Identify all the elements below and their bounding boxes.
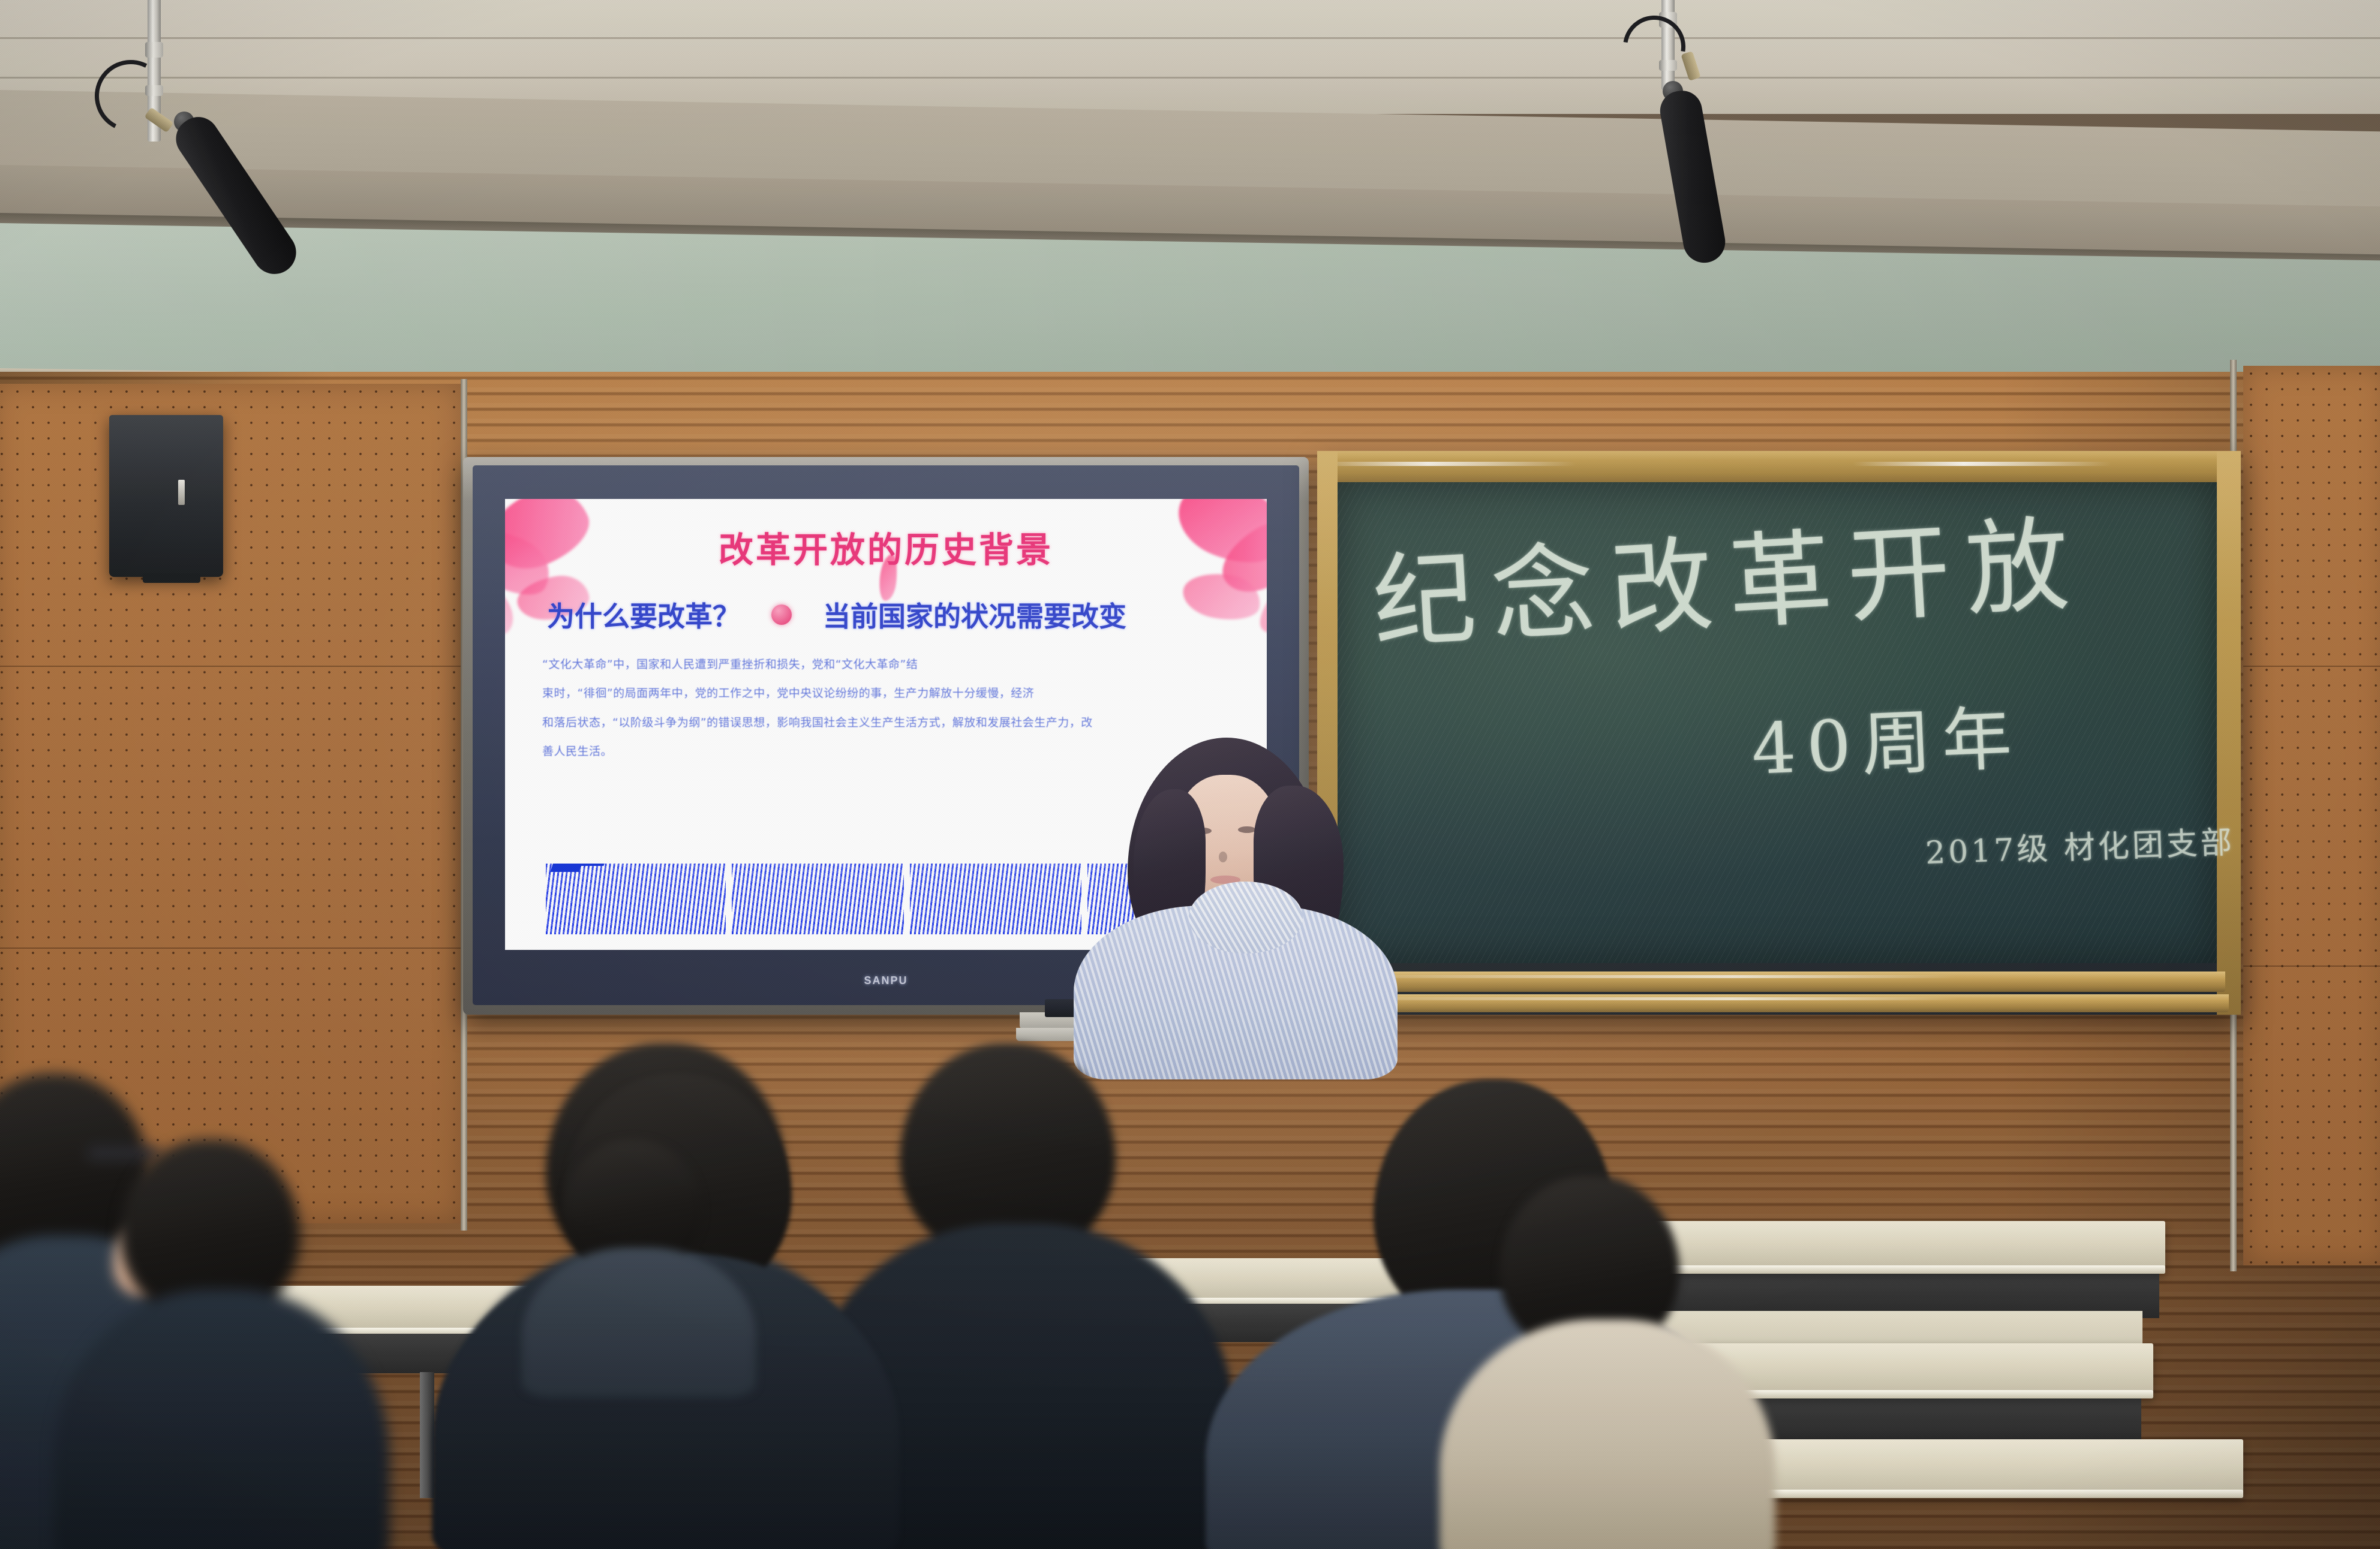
xlr-connector <box>1681 51 1700 81</box>
blackboard-surface: 纪念改革开放 40周年 2017级 材化团支部 <box>1338 482 2217 963</box>
microphone-cable <box>1610 3 1697 90</box>
student-torso <box>522 1247 756 1397</box>
chalk-tray <box>1330 971 2225 992</box>
boom-microphone-right <box>1571 0 1811 288</box>
slide-photo-1 <box>546 864 726 934</box>
wall-speaker-left <box>109 415 223 577</box>
student-jacket <box>1440 1319 1775 1549</box>
slide-question-row: 为什么要改革？ 当前国家的状况需要改变 <box>505 595 1267 634</box>
blackboard-subline: 40周年 <box>1749 682 2024 794</box>
student-torso <box>54 1289 390 1549</box>
shotgun-microphone-capsule <box>168 109 304 282</box>
classroom-blackboard: 纪念改革开放 40周年 2017级 材化团支部 <box>1317 451 2241 1015</box>
shotgun-microphone-capsule <box>1657 88 1729 266</box>
presenter-cowl-collar <box>1189 882 1303 954</box>
chalk-tray-lip <box>1326 994 2229 1012</box>
slide-question: 为什么要改革？ <box>547 595 740 634</box>
student-midground-left <box>528 1139 756 1391</box>
slide-answer: 当前国家的状况需要改变 <box>823 595 1126 634</box>
slide-bullet-icon <box>771 604 792 625</box>
acoustic-panel-right <box>2243 366 2380 1265</box>
slide-body-line: 束时，“徘徊”的局面两年中，党的工作之中，党中央议论纷纷的事，生产力解放十分缓慢… <box>542 679 1239 708</box>
boom-microphone-left <box>90 0 342 312</box>
student-front-left <box>102 1139 360 1549</box>
classroom-scene: 改革开放的历史背景 为什么要改革？ 当前国家的状况需要改变 “文化大革命”中，国… <box>0 0 2380 1549</box>
speaker-power-led <box>178 480 185 505</box>
speaker-mount-foot <box>143 573 200 583</box>
display-brand-logo: SANPU <box>864 974 907 987</box>
slide-photo-2 <box>732 864 903 934</box>
student-right <box>1464 1175 1775 1549</box>
slide-body-line: “文化大革命”中，国家和人民遭到严重挫折和损失，党和“文化大革命”结 <box>542 650 1239 679</box>
presenter <box>1056 732 1416 1067</box>
slide-title: 改革开放的历史背景 <box>505 522 1267 572</box>
